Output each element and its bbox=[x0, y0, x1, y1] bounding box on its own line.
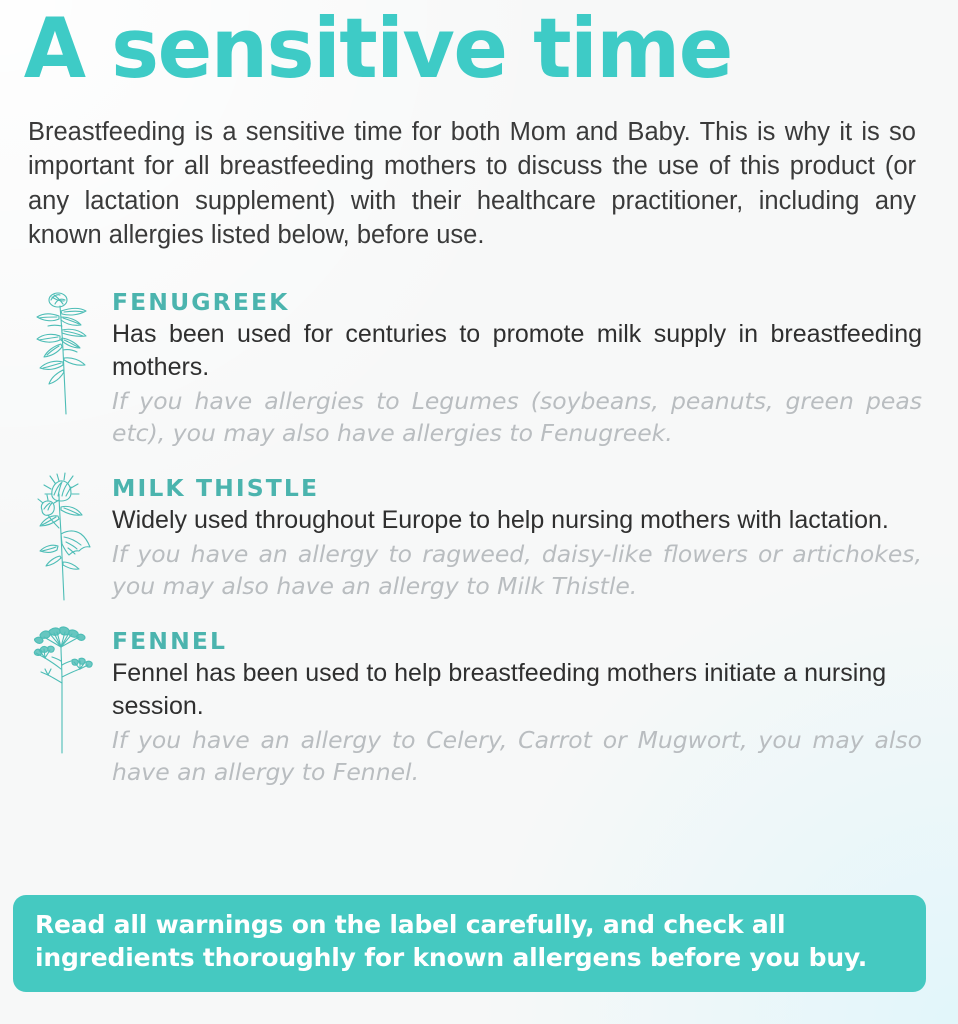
herb-text-milk-thistle: MILK THISTLE Widely used throughout Euro… bbox=[112, 468, 944, 603]
herb-name-label: FENNEL bbox=[112, 627, 922, 655]
herb-list: FENUGREEK Has been used for centuries to… bbox=[14, 282, 944, 789]
herb-text-fenugreek: FENUGREEK Has been used for centuries to… bbox=[112, 282, 944, 450]
fenugreek-plant-icon bbox=[14, 282, 112, 422]
herb-item-milk-thistle: MILK THISTLE Widely used throughout Euro… bbox=[14, 468, 944, 603]
herb-allergy-note: If you have an allergy to ragweed, daisy… bbox=[112, 539, 922, 603]
herb-description: Fennel has been used to help breastfeedi… bbox=[112, 657, 922, 723]
page-title: A sensitive time bbox=[14, 0, 916, 89]
herb-item-fenugreek: FENUGREEK Has been used for centuries to… bbox=[14, 282, 944, 450]
herb-allergy-note: If you have allergies to Legumes (soybea… bbox=[112, 386, 922, 450]
herb-item-fennel: FENNEL Fennel has been used to help brea… bbox=[14, 621, 944, 789]
fennel-plant-icon bbox=[14, 621, 112, 753]
herb-allergy-note: If you have an allergy to Celery, Carrot… bbox=[112, 725, 922, 789]
warning-banner: Read all warnings on the label carefully… bbox=[13, 895, 926, 992]
warning-banner-text: Read all warnings on the label carefully… bbox=[35, 909, 904, 974]
herb-name-label: MILK THISTLE bbox=[112, 474, 922, 502]
intro-paragraph: Breastfeeding is a sensitive time for bo… bbox=[14, 115, 944, 252]
infographic-page: A sensitive time Breastfeeding is a sens… bbox=[0, 0, 958, 1024]
milk-thistle-plant-icon bbox=[14, 468, 112, 600]
herb-description: Widely used throughout Europe to help nu… bbox=[112, 504, 922, 537]
herb-text-fennel: FENNEL Fennel has been used to help brea… bbox=[112, 621, 944, 789]
herb-name-label: FENUGREEK bbox=[112, 288, 922, 316]
herb-description: Has been used for centuries to promote m… bbox=[112, 318, 922, 384]
